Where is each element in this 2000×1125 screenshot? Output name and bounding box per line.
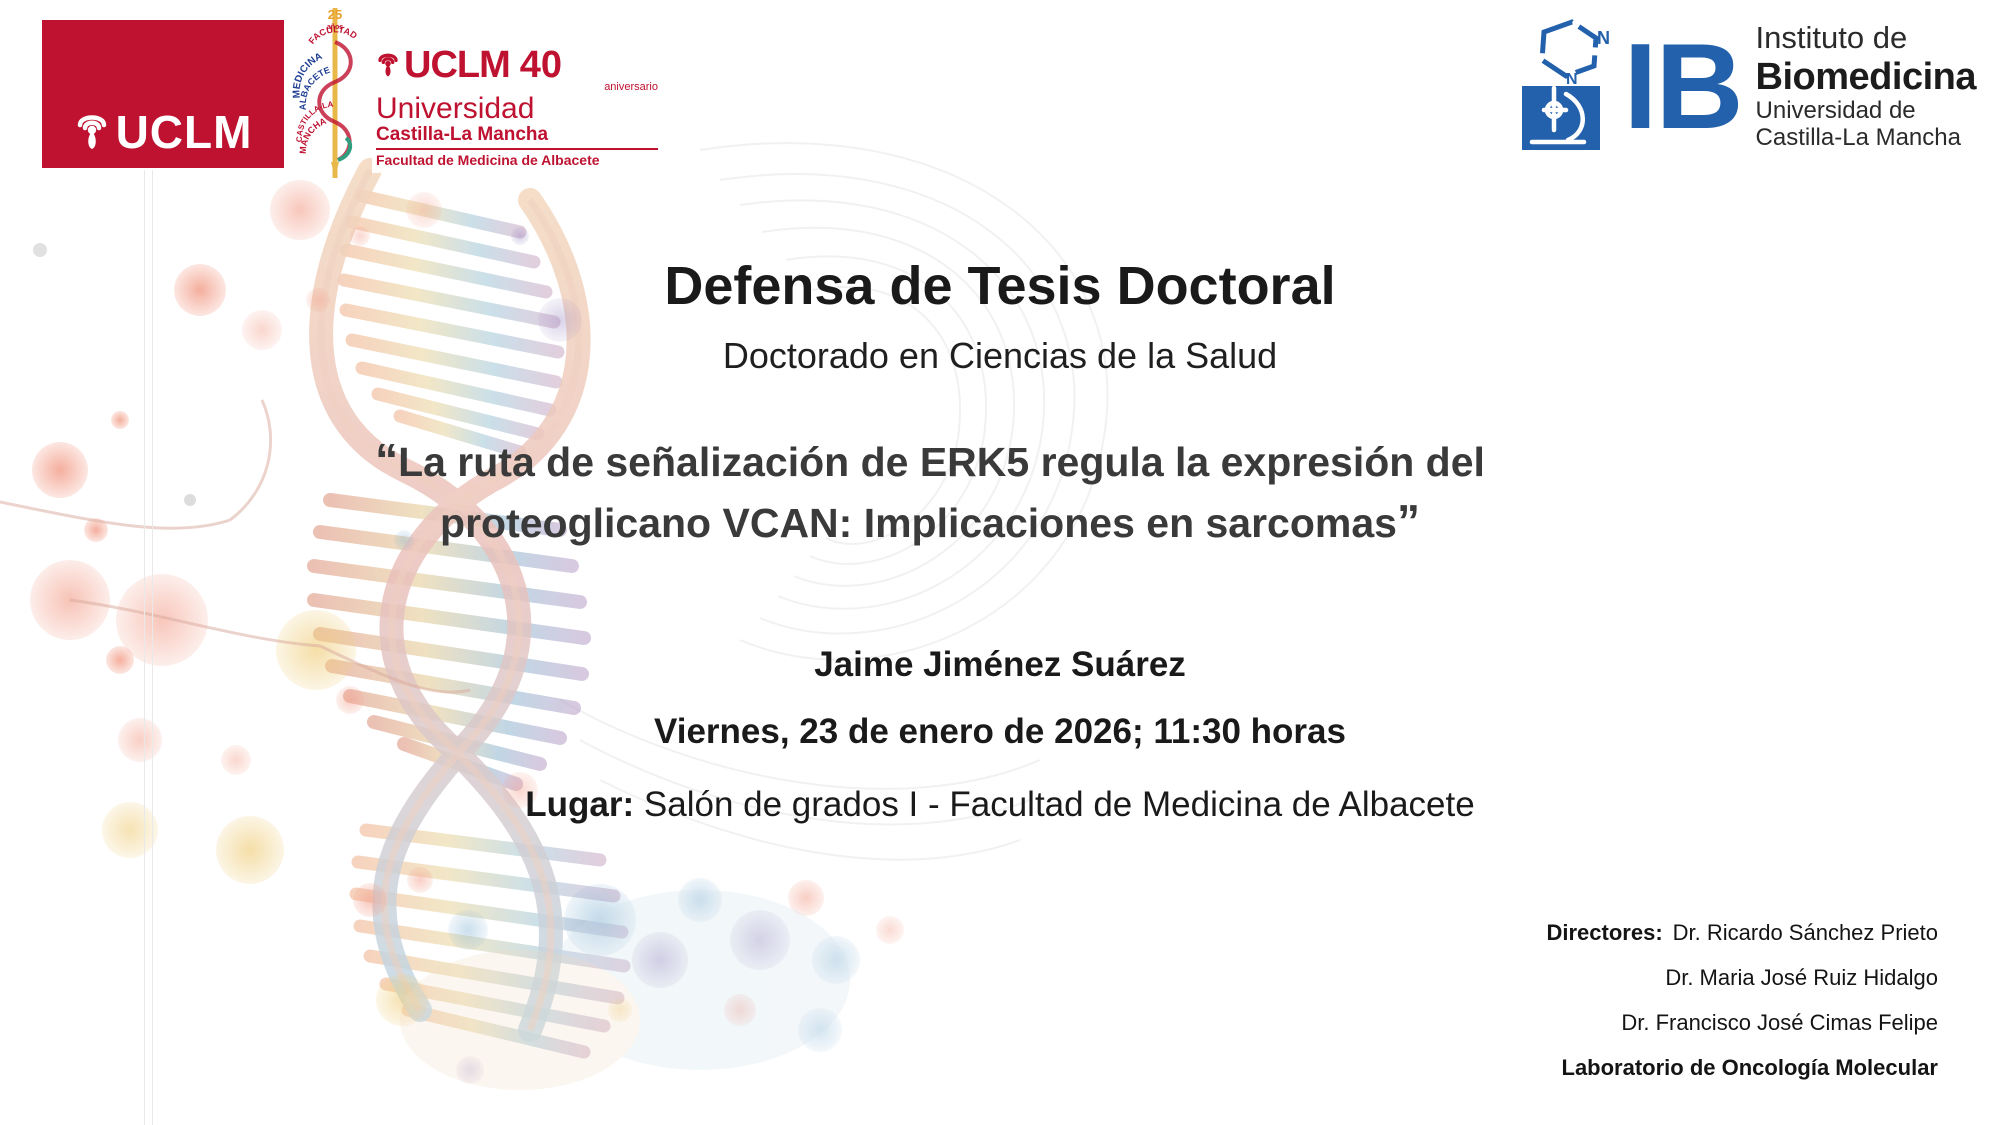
close-quote-mark: ” xyxy=(1397,495,1420,547)
programme-subtitle: Doctorado en Ciencias de la Salud xyxy=(0,335,2000,377)
director-row-2: Dr. Maria José Ruiz Hidalgo xyxy=(1178,965,1938,991)
defence-datetime: Viernes, 23 de enero de 2026; 11:30 hora… xyxy=(0,712,2000,752)
defence-venue: Lugar: Salón de grados I - Facultad de M… xyxy=(0,785,2000,825)
director-name-3: Dr. Francisco José Cimas Felipe xyxy=(1621,1010,1938,1035)
director-name-2: Dr. Maria José Ruiz Hidalgo xyxy=(1665,965,1938,990)
venue-label: Lugar: xyxy=(525,785,634,824)
director-row-1: Directores:Dr. Ricardo Sánchez Prieto xyxy=(1178,920,1938,946)
thesis-title-line-1: La ruta de señalización de ERK5 regula l… xyxy=(398,439,1485,485)
poster-root: UCLM 25 años FACULTAD MEDICINA xyxy=(0,0,2000,1125)
director-name-1: Dr. Ricardo Sánchez Prieto xyxy=(1673,920,1938,945)
venue-value: Salón de grados I - Facultad de Medicina… xyxy=(644,785,1475,824)
directors-label: Directores: xyxy=(1547,920,1663,945)
thesis-title-line-2: proteoglicano VCAN: Implicaciones en sar… xyxy=(440,500,1397,546)
laboratory-name: Laboratorio de Oncología Molecular xyxy=(1178,1055,1938,1081)
candidate-name: Jaime Jiménez Suárez xyxy=(0,645,2000,685)
poster-content: Defensa de Tesis Doctoral Doctorado en C… xyxy=(0,0,2000,1125)
directors-block: Directores:Dr. Ricardo Sánchez Prieto Dr… xyxy=(1178,920,1938,1081)
page-title: Defensa de Tesis Doctoral xyxy=(0,255,2000,317)
open-quote-mark: “ xyxy=(375,434,398,486)
thesis-title: “La ruta de señalización de ERK5 regula … xyxy=(230,430,1630,551)
director-row-3: Dr. Francisco José Cimas Felipe xyxy=(1178,1010,1938,1036)
